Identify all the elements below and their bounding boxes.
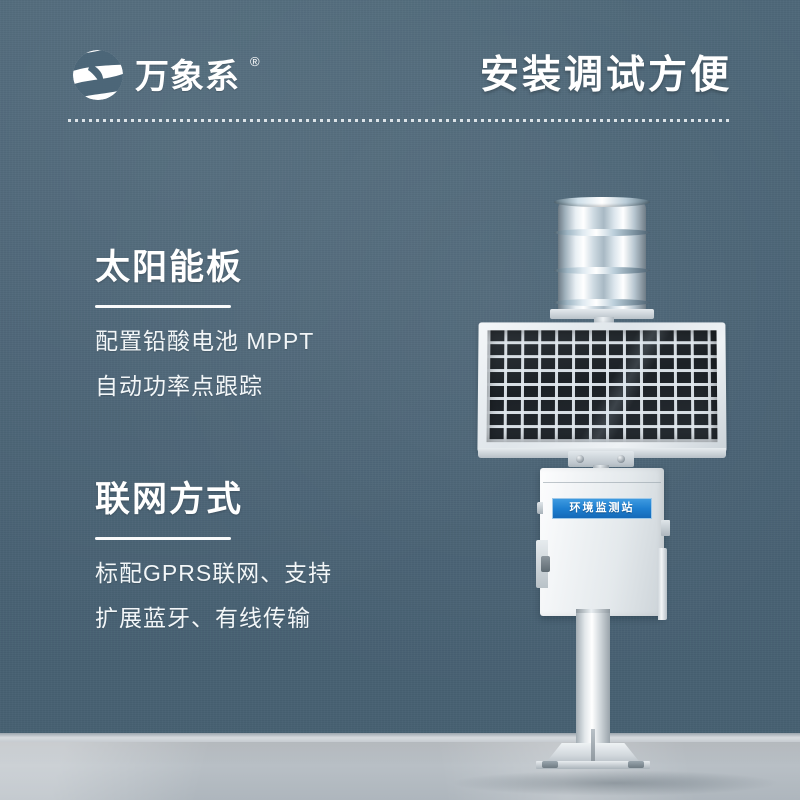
- enclosure-lid-seam: [543, 482, 661, 483]
- feature-line: 扩展蓝牙、有线传输: [95, 607, 332, 630]
- brand-lockup: 万象系 ®: [70, 48, 259, 102]
- rain-gauge-ring: [554, 229, 650, 236]
- rain-gauge-rim: [554, 197, 650, 207]
- rain-gauge-ring: [554, 299, 650, 306]
- feature-line: 自动功率点跟踪: [95, 375, 314, 398]
- enclosure-label-badge: 环境监测站: [552, 498, 652, 519]
- base-anchor-bolt-icon: [542, 761, 558, 768]
- solar-panel-frame: [477, 322, 726, 452]
- registered-trademark-icon: ®: [250, 55, 260, 68]
- feature-block-network: 联网方式 标配GPRS联网、支持 扩展蓝牙、有线传输: [95, 482, 332, 630]
- bracket-bolt-icon: [617, 455, 625, 463]
- feature-description-network: 标配GPRS联网、支持 扩展蓝牙、有线传输: [95, 562, 332, 630]
- controller-enclosure: 环境监测站: [540, 468, 664, 616]
- product-feature-banner: 万象系 ® 安装调试方便 太阳能板 配置铅酸电池 MPPT 自动功率点跟踪 联网…: [0, 0, 800, 800]
- header-dotted-divider: [68, 119, 730, 122]
- enclosure-side-strip: [658, 548, 667, 620]
- feature-line: 配置铅酸电池 MPPT: [95, 330, 314, 353]
- feature-block-solar-panel: 太阳能板 配置铅酸电池 MPPT 自动功率点跟踪: [95, 250, 314, 398]
- rain-gauge-ring: [554, 267, 650, 274]
- rain-gauge-body: [558, 203, 646, 311]
- enclosure-body: [540, 468, 664, 616]
- header: 万象系 ® 安装调试方便: [0, 0, 800, 125]
- enclosure-side-clip: [537, 502, 543, 514]
- enclosure-label-text: 环境监测站: [570, 503, 635, 514]
- feature-title-solar-panel: 太阳能板: [95, 250, 314, 285]
- brand-name: 万象系: [135, 60, 240, 94]
- enclosure-side-vent: [661, 520, 670, 536]
- globe-swirl-logo-icon: [70, 48, 126, 102]
- solar-panel-cells: [487, 330, 718, 442]
- rain-gauge-sensor: [552, 195, 652, 315]
- solar-panel: [478, 322, 726, 452]
- feature-title-network: 联网方式: [95, 482, 332, 517]
- enclosure-cable-gland-icon: [541, 556, 550, 572]
- feature-underline: [95, 305, 231, 308]
- page-title: 安装调试方便: [480, 52, 732, 101]
- feature-description-solar-panel: 配置铅酸电池 MPPT 自动功率点跟踪: [95, 330, 314, 398]
- base-gusset-rib: [591, 729, 595, 763]
- feature-line: 标配GPRS联网、支持: [95, 562, 332, 585]
- base-anchor-bolt-icon: [628, 761, 644, 768]
- weather-station-device: 环境监测站: [470, 195, 730, 800]
- feature-underline: [95, 537, 231, 540]
- bracket-bolt-icon: [576, 455, 584, 463]
